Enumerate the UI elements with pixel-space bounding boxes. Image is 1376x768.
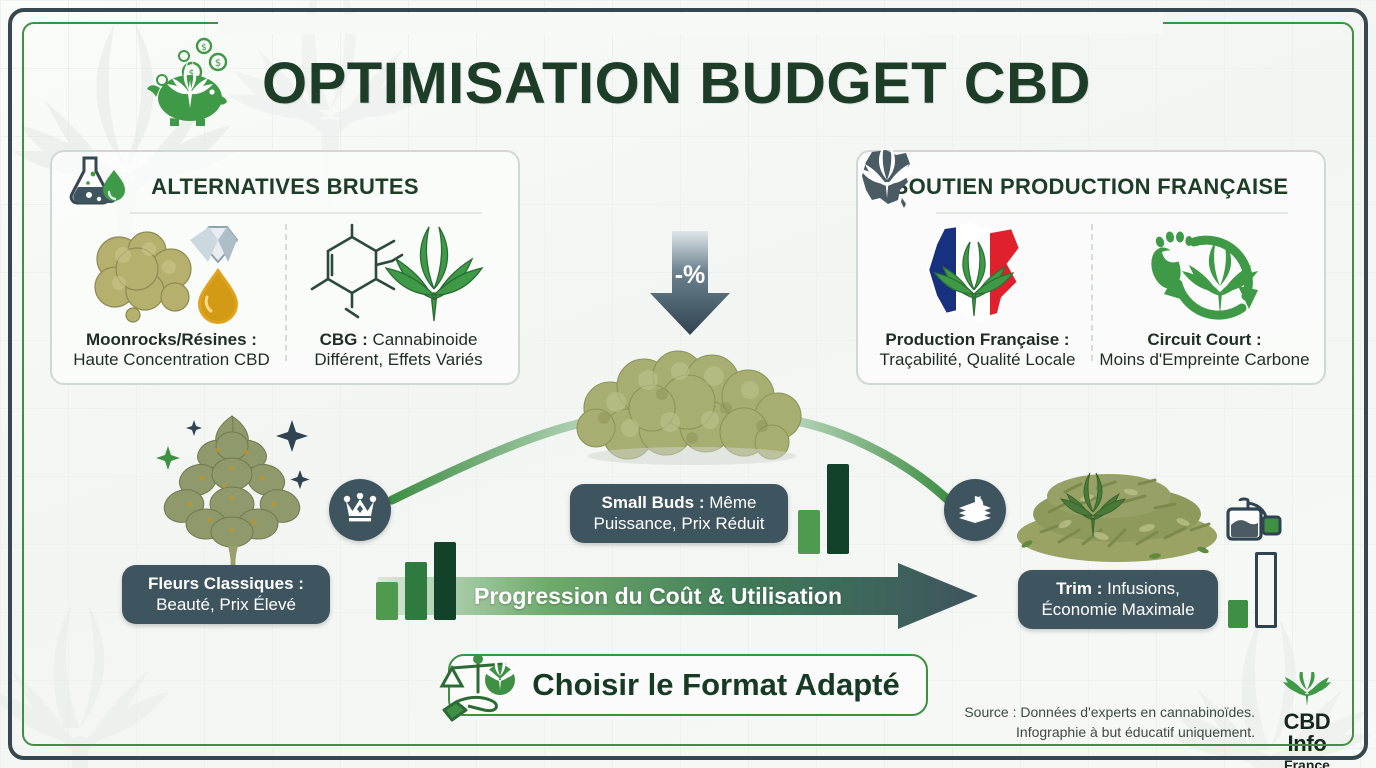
flask-droplet-icon [64,154,126,211]
panel-item-cbg: CBG : Cannabinoide Différent, Effets Var… [285,218,512,375]
label-small-buds: Small Buds : Même Puissance, Prix Réduit [570,484,788,543]
brand-logo: CBD Info France [1262,690,1352,768]
piggy-bank-cannabis-icon: $ $ $ [140,36,244,133]
pill-line2: Puissance, Prix Réduit [584,514,774,535]
page-title: OPTIMISATION BUDGET CBD [262,55,1091,113]
bar-group-small-buds [798,462,849,554]
source-line-1: Source : Données d'experts en cannabinoï… [955,703,1255,723]
progression-label: Progression du Coût & Utilisation [378,583,938,610]
scales-hand-leaf-icon [438,652,524,729]
caption-rest: Cannabinoide [368,330,478,349]
frame-gap-mask [218,14,1163,34]
caption-line2: Haute Concentration CBD [73,350,270,371]
panel-body: Production Française : Traçabilité, Qual… [864,218,1318,375]
caption-line2: Traçabilité, Qualité Locale [880,350,1076,371]
bar [798,510,820,554]
panel-item-circuit-court: Circuit Court : Moins d'Empreinte Carbon… [1091,218,1318,375]
cannabis-leaf-icon [1262,672,1352,711]
infographic-canvas: $ $ $ [0,0,1376,768]
molecule-cannabis-leaf-icon [285,218,512,330]
panel-alternatives-brutes: ALTERNATIVES BRUTES [50,150,520,385]
france-flag-map-leaf-icon [864,218,1091,330]
caption-bold: Production Française : [885,330,1069,349]
logo-sub-text: France [1262,757,1352,768]
pill-bold: Small Buds : [602,493,705,512]
pill-bold: Trim : [1056,579,1102,598]
stacked-leaves-icon [957,492,993,529]
cannabis-small-buds-pile-icon [566,316,816,466]
france-map-leaf-icon [852,146,924,217]
caption-bold: Circuit Court : [1147,330,1261,349]
page-title-row: $ $ $ [140,34,1200,134]
bar-group-fleurs [376,540,456,620]
caption-bold: CBG : [320,330,368,349]
crown-icon [343,493,377,528]
caption-line2: Moins d'Empreinte Carbone [1099,350,1309,371]
panel-title: ALTERNATIVES BRUTES [151,174,419,200]
pill-line2: Économie Maximale [1032,600,1204,621]
caption-line2: Différent, Effets Variés [314,350,482,371]
bar [405,562,427,620]
panel-item-caption: CBG : Cannabinoide Différent, Effets Var… [310,330,486,371]
pill-bold: Fleurs Classiques : [148,574,304,593]
logo-main-text: CBD Info [1262,711,1352,755]
pill-rest: Même [705,493,757,512]
bar [1228,600,1248,628]
pill-line2: Beauté, Prix Élevé [136,595,316,616]
panel-item-caption: Moonrocks/Résines : Haute Concentration … [69,330,274,371]
panel-item-caption: Circuit Court : Moins d'Empreinte Carbon… [1095,330,1313,371]
source-line-2: Infographie à but éducatif uniquement. [955,723,1255,743]
cta-label: Choisir le Format Adapté [532,667,899,703]
badge-trim-leaves[interactable] [944,479,1006,541]
panel-body: Moonrocks/Résines : Haute Concentration … [58,218,512,375]
divider [936,212,1288,214]
bar [376,582,398,620]
source-note: Source : Données d'experts en cannabinoï… [955,703,1255,743]
panel-soutien-production-francaise: SOUTIEN PRODUCTION FRANÇAISE [856,150,1326,385]
panel-header: SOUTIEN PRODUCTION FRANÇAISE [858,162,1324,212]
pill-rest: Infusions, [1102,579,1180,598]
bar [827,464,849,554]
svg-text:$: $ [201,43,207,53]
panel-title: SOUTIEN PRODUCTION FRANÇAISE [894,174,1289,200]
label-trim: Trim : Infusions, Économie Maximale [1018,570,1218,629]
premium-cannabis-flower-sparkle-icon [140,398,325,578]
moonrocks-crystal-oil-icon [58,218,285,330]
cta-choisir-format[interactable]: Choisir le Format Adapté [448,654,928,716]
carbon-footprint-recycle-leaf-icon [1091,218,1318,330]
bar-group-trim [1228,548,1277,628]
label-fleurs-classiques: Fleurs Classiques : Beauté, Prix Élevé [122,565,330,624]
cannabis-trim-pile-icon [1005,440,1230,570]
caption-bold: Moonrocks/Résines : [86,330,257,349]
badge-premium-crown[interactable] [329,479,391,541]
panel-item-moonrocks: Moonrocks/Résines : Haute Concentration … [58,218,285,375]
panel-item-production-francaise: Production Française : Traçabilité, Qual… [864,218,1091,375]
bar [434,542,456,620]
discount-label: -% [646,261,734,290]
divider [130,212,482,214]
progression-arrow: Progression du Coût & Utilisation [378,563,978,629]
bar [1255,552,1277,628]
svg-text:$: $ [215,58,221,69]
panel-item-caption: Production Française : Traçabilité, Qual… [876,330,1080,371]
